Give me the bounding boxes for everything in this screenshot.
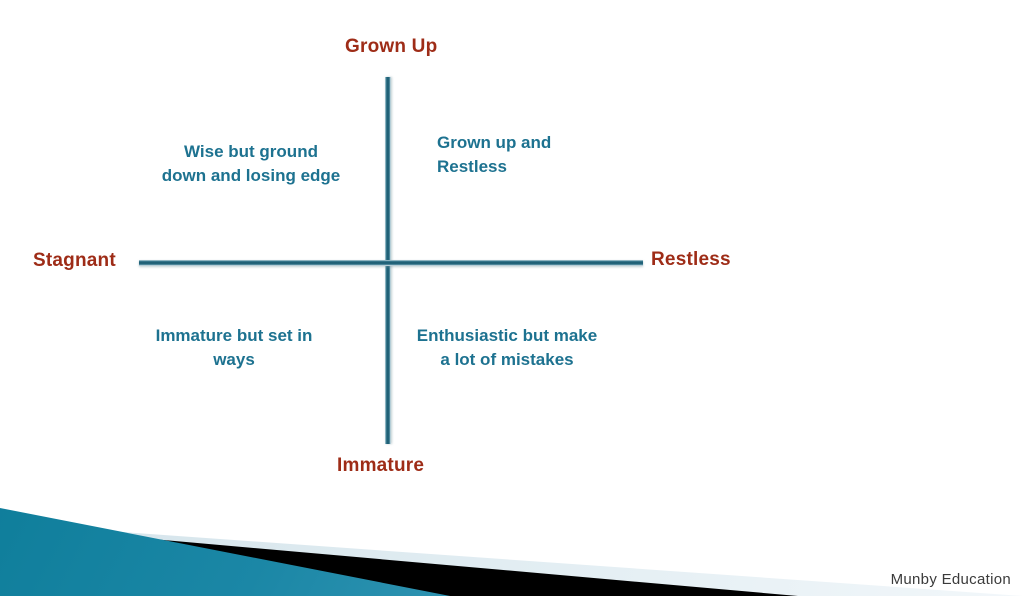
slide-canvas: Grown Up Immature Stagnant Restless Wise… <box>0 0 1023 596</box>
quadrant-bottom-right-line-1: Enthusiastic but make <box>392 324 622 348</box>
quadrant-bottom-right: Enthusiastic but make a lot of mistakes <box>392 324 622 372</box>
quadrant-top-right-line-1: Grown up and <box>437 131 647 155</box>
quadrant-top-right-line-2: Restless <box>437 155 647 179</box>
credit-text: Munby Education <box>891 571 1011 588</box>
quadrant-bottom-left-line-1: Immature but set in <box>126 324 342 348</box>
axis-label-immature: Immature <box>337 455 424 477</box>
horizontal-axis-line <box>139 260 643 266</box>
quadrant-bottom-left: Immature but set in ways <box>126 324 342 372</box>
quadrant-top-right: Grown up and Restless <box>437 131 647 179</box>
footer-pale-triangle <box>0 486 1023 596</box>
quadrant-bottom-right-line-2: a lot of mistakes <box>392 348 622 372</box>
footer-decoration <box>0 486 1023 596</box>
axis-label-grown-up: Grown Up <box>345 36 437 58</box>
axis-label-restless: Restless <box>651 249 731 271</box>
quadrant-top-left-line-1: Wise but ground <box>134 140 368 164</box>
footer-black-wedge <box>0 486 1023 596</box>
footer-blue-triangle <box>0 486 1023 596</box>
quadrant-top-left-line-2: down and losing edge <box>134 164 368 188</box>
axis-label-stagnant: Stagnant <box>33 250 116 272</box>
quadrant-top-left: Wise but ground down and losing edge <box>134 140 368 188</box>
quadrant-bottom-left-line-2: ways <box>126 348 342 372</box>
